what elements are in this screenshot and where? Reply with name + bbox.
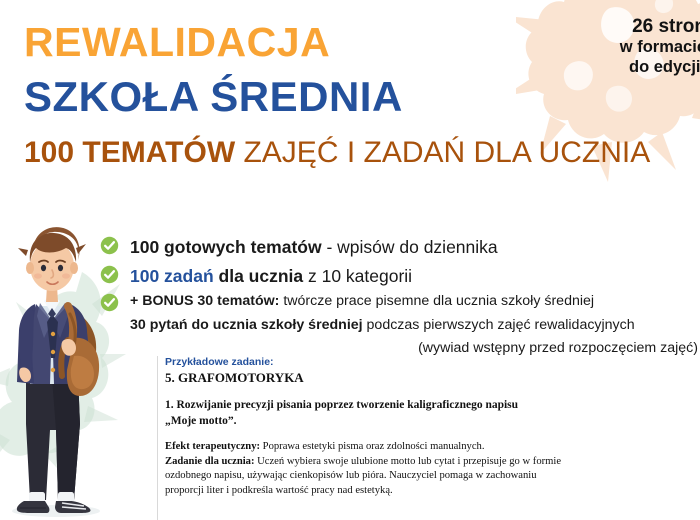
doc-assignment-text-1: Uczeń wybiera swoje ulubione motto lub c… [254, 456, 561, 467]
list-item-rest: twórcze prace pisemne dla ucznia szkoły … [279, 293, 594, 309]
doc-task-line-2: „Moje motto”. [165, 414, 700, 430]
feature-list: 100 gotowych tematów - wpisów do dzienni… [100, 234, 700, 360]
check-circle-icon [100, 293, 119, 312]
badge-line-editable: do edycji! [620, 58, 700, 77]
list-item-text: 100 zadań dla ucznia z 10 kategorii [130, 263, 412, 290]
doc-assignment-line-1: Zadanie dla ucznia: Uczeń wybiera swoje … [165, 455, 700, 470]
title-line-rewalidacja: REWALIDACJA [24, 22, 684, 63]
list-item: 100 zadań dla ucznia z 10 kategorii [100, 263, 700, 290]
subtitle-strong: 100 TEMATÓW [24, 136, 235, 169]
subtitle-rest: ZAJĘĆ I ZADAŃ DLA UCZNIA [235, 136, 650, 169]
pages-badge: 26 stron w formacie do edycji! [620, 16, 700, 77]
example-document-preview: Przykładowe zadanie: 5. GRAFOMOTORYKA 1.… [157, 356, 700, 520]
list-item: 30 pytań do ucznia szkoły średniej podcz… [100, 315, 700, 337]
doc-assignment-label: Zadanie dla ucznia: [165, 456, 254, 467]
doc-assignment-line-2: ozdobnego napisu, używając cienkopisów l… [165, 469, 700, 484]
list-item-text: + BONUS 30 tematów: twórcze prace pisemn… [130, 291, 594, 313]
doc-title: 5. GRAFOMOTORYKA [165, 370, 700, 387]
list-note: (wywiad wstępny przed rozpoczęciem zajęć… [100, 338, 700, 359]
list-item-strong: 100 gotowych tematów [130, 237, 322, 257]
check-circle-icon [100, 265, 119, 284]
list-item-highlight: 100 zadań [130, 266, 214, 286]
list-item-text: 30 pytań do ucznia szkoły średniej podcz… [130, 315, 635, 337]
list-item: + BONUS 30 tematów: twórcze prace pisemn… [100, 291, 700, 313]
doc-effect-label: Efekt terapeutyczny: [165, 441, 260, 452]
doc-effect-text: Poprawa estetyki pisma oraz zdolności ma… [260, 441, 484, 452]
doc-effect-line: Efekt terapeutyczny: Poprawa estetyki pi… [165, 440, 700, 455]
doc-body: Efekt terapeutyczny: Poprawa estetyki pi… [165, 440, 700, 499]
list-item-rest: - wpisów do dziennika [322, 237, 498, 257]
poster-canvas: REWALIDACJA SZKOŁA ŚREDNIA 100 TEMATÓW Z… [0, 0, 700, 520]
list-item-rest: podczas pierwszych zajęć rewalidacyjnych [363, 317, 635, 333]
title-line-szkola-srednia: SZKOŁA ŚREDNIA [24, 76, 684, 118]
list-item-strong: dla ucznia [214, 266, 303, 286]
list-item-text: 100 gotowych tematów - wpisów do dzienni… [130, 234, 498, 261]
student-boy-illustration [0, 218, 112, 520]
badge-line-format: w formacie [620, 38, 700, 57]
list-item: 100 gotowych tematów - wpisów do dzienni… [100, 234, 700, 261]
list-item-strong: + BONUS 30 tematów: [130, 293, 279, 309]
check-circle-icon [100, 236, 119, 255]
doc-task-line-1: 1. Rozwijanie precyzji pisania poprzez t… [165, 398, 700, 414]
list-item-rest: z 10 kategorii [303, 266, 412, 286]
list-item-strong: 30 pytań do ucznia szkoły średniej [130, 317, 363, 333]
subtitle-line: 100 TEMATÓW ZAJĘĆ I ZADAŃ DLA UCZNIA [24, 138, 684, 168]
badge-line-pages: 26 stron [620, 16, 700, 38]
headline-block: REWALIDACJA SZKOŁA ŚREDNIA 100 TEMATÓW Z… [24, 22, 684, 168]
doc-assignment-line-3: proporcji liter i podkreśla wartość prac… [165, 484, 700, 499]
